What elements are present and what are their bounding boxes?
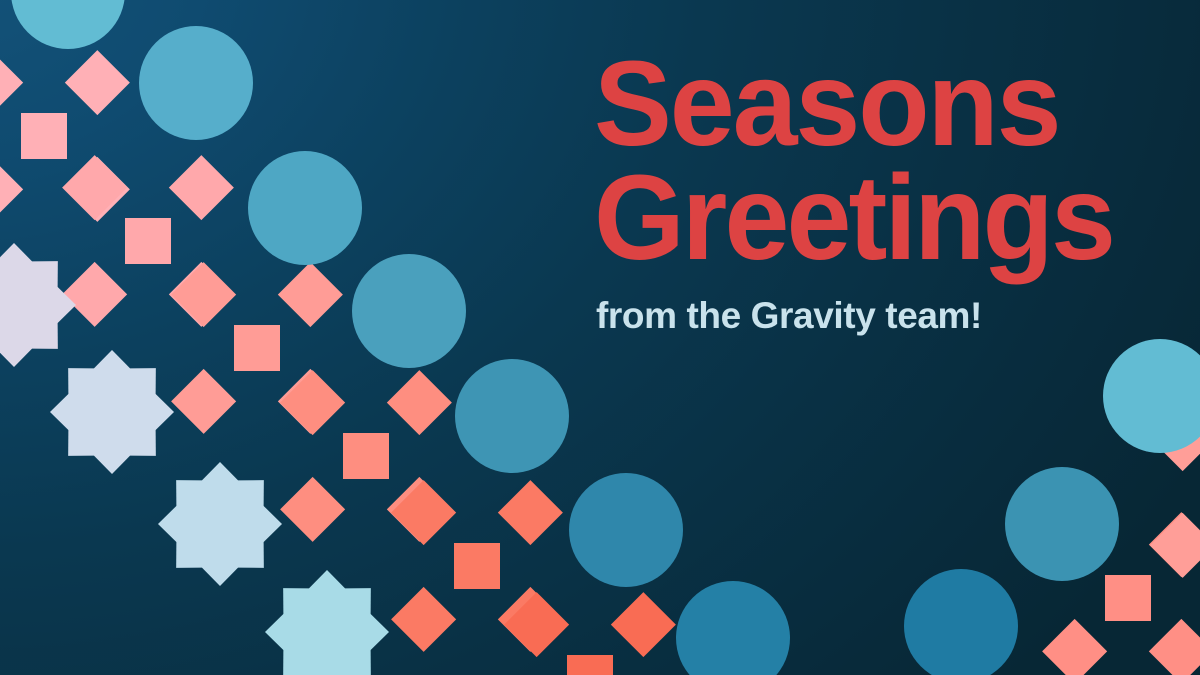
diamond-shape [65, 157, 130, 222]
diamond-shape [0, 157, 23, 222]
diamond-shape [0, 50, 23, 115]
square-shape [234, 325, 280, 371]
pinwheel-mid-left [352, 254, 466, 368]
snowflake-arm [202, 462, 239, 524]
diamond-cluster-3 [171, 262, 343, 434]
diamond-shape [1150, 406, 1200, 471]
snowflake-arm [314, 575, 384, 645]
diamond-shape [65, 50, 130, 115]
pinwheel-blade [1103, 396, 1160, 453]
pinwheel-blade [352, 254, 409, 311]
pinwheel-right-upper [1103, 339, 1200, 453]
snowflake-arm [99, 355, 169, 425]
diamond-cluster-7 [1042, 512, 1200, 675]
square-shape [343, 433, 389, 479]
pinwheel-blade [1103, 339, 1160, 396]
diamond-shape [1150, 513, 1200, 578]
snowflake-arm [163, 467, 233, 537]
page-title: Seasons Greetings [594, 46, 1173, 275]
pinwheel-blade [139, 26, 196, 83]
pinwheel-blade [248, 208, 305, 265]
diamond-shape [391, 587, 456, 652]
snowflake-arm [14, 287, 76, 324]
diamond-cluster-5 [391, 480, 563, 652]
pinwheel-blade [626, 473, 683, 530]
snowflake-arm [270, 575, 340, 645]
pinwheel-blade [1062, 524, 1119, 581]
diamond-shape [498, 480, 563, 545]
diamond-shape [387, 477, 452, 542]
snowflake-arm [202, 524, 239, 586]
snowflake-arm [50, 394, 112, 431]
pinwheel-blade [569, 530, 626, 587]
snowflake-arm [207, 511, 277, 581]
snowflake-arm [327, 614, 389, 651]
diamond-shape [387, 370, 452, 435]
pinwheel-blade [455, 416, 512, 473]
diamond-shape [498, 587, 563, 652]
pinwheel-blade [68, 0, 125, 49]
diamond-shape [171, 369, 236, 434]
snowflake-arm [0, 292, 27, 362]
pinwheel-blade [1005, 524, 1062, 581]
snowflake-arm [112, 394, 174, 431]
pinwheel-blade [961, 626, 1018, 675]
snowflake-arm [220, 506, 282, 543]
pinwheel-blade [305, 208, 362, 265]
diamond-shape [171, 262, 236, 327]
pinwheel-blade [569, 473, 626, 530]
diamond-shape [504, 592, 569, 657]
headline-line-2: Greetings [594, 149, 1113, 285]
snowflake-arm [1, 292, 71, 362]
snowflake-arm [265, 614, 327, 651]
diamond-shape [62, 155, 127, 220]
pinwheel-blade [512, 416, 569, 473]
pinwheel-blade [409, 311, 466, 368]
pinwheel-center [455, 359, 569, 473]
snowflake-arm [0, 248, 27, 318]
pinwheel-blade [1160, 339, 1200, 396]
pinwheel-blade [676, 581, 733, 638]
greeting-text-block: Seasons Greetings from the Gravity team! [594, 46, 1194, 334]
snowflake-left-edge [0, 243, 76, 367]
pinwheel-blade [733, 581, 790, 638]
snowflake-arm [270, 619, 340, 675]
diamond-shape [1042, 619, 1107, 675]
pinwheel-blade [733, 638, 790, 675]
pinwheel-blade [512, 359, 569, 416]
square-shape [125, 218, 171, 264]
pinwheel-blade [961, 569, 1018, 626]
diamond-shape [1149, 512, 1200, 577]
diamond-shape [62, 262, 127, 327]
pinwheel-blade [626, 530, 683, 587]
pinwheel-corner-top [11, 0, 125, 49]
snowflake-arm [309, 632, 346, 675]
snowflake-middle [158, 462, 282, 586]
pinwheel-blade [196, 26, 253, 83]
diamond-cluster-1 [0, 50, 130, 222]
snowflake-arm [309, 570, 346, 632]
pinwheel-blade [1062, 467, 1119, 524]
pinwheel-blade [455, 359, 512, 416]
pinwheel-blade [196, 83, 253, 140]
snowflake-arm [158, 506, 220, 543]
pinwheel-right-lower [904, 569, 1018, 675]
greeting-card: Seasons Greetings from the Gravity team! [0, 0, 1200, 675]
snowflake-lower [265, 570, 389, 675]
snowflake-arm [55, 399, 125, 469]
snowflake-arm [94, 412, 131, 474]
pinwheel-bottom-mid [676, 581, 790, 675]
snowflake-arm [0, 243, 32, 305]
snowflake-arm [0, 305, 32, 367]
diamond-shape [391, 480, 456, 545]
diamond-shape [169, 155, 234, 220]
snowflake-arm [163, 511, 233, 581]
diamond-cluster-4 [280, 370, 452, 542]
square-shape [21, 113, 67, 159]
pinwheel-upper-mid [248, 151, 362, 265]
diamond-shape [1149, 619, 1200, 675]
pinwheel-blade [248, 151, 305, 208]
diamond-shape [1042, 512, 1107, 577]
diamond-shape [278, 262, 343, 327]
diamond-shape [278, 369, 343, 434]
diamond-cluster-8 [1150, 406, 1200, 578]
diamond-shape [611, 592, 676, 657]
snowflake-arm [55, 355, 125, 425]
square-shape [454, 543, 500, 589]
pinwheel-blade [352, 311, 409, 368]
diamond-cluster-6 [504, 592, 676, 675]
pinwheel-blade [305, 151, 362, 208]
snowflake-arm [94, 350, 131, 412]
square-shape [567, 655, 613, 675]
pinwheel-right-mid [1005, 467, 1119, 581]
diamond-shape [280, 370, 345, 435]
pinwheel-blade [1005, 467, 1062, 524]
pinwheel-lower-mid [569, 473, 683, 587]
diamond-shape [280, 477, 345, 542]
diamond-shape [169, 262, 234, 327]
snowflake-arm [99, 399, 169, 469]
snowflake-upper [50, 350, 174, 474]
snowflake-arm [314, 619, 384, 675]
pinwheel-blade [904, 569, 961, 626]
snowflake-arm [0, 287, 14, 324]
square-shape [1105, 575, 1151, 621]
snowflake-arm [207, 467, 277, 537]
snowflake-arm [1, 248, 71, 318]
subtitle: from the Gravity team! [596, 297, 1194, 334]
pinwheel-blade [409, 254, 466, 311]
pinwheel-blade [11, 0, 68, 49]
pinwheel-blade [1160, 396, 1200, 453]
pinwheel-blade [904, 626, 961, 675]
diamond-cluster-2 [62, 155, 234, 327]
pinwheel-blade [676, 638, 733, 675]
pinwheel-blade [139, 83, 196, 140]
pinwheel-top-left [139, 26, 253, 140]
